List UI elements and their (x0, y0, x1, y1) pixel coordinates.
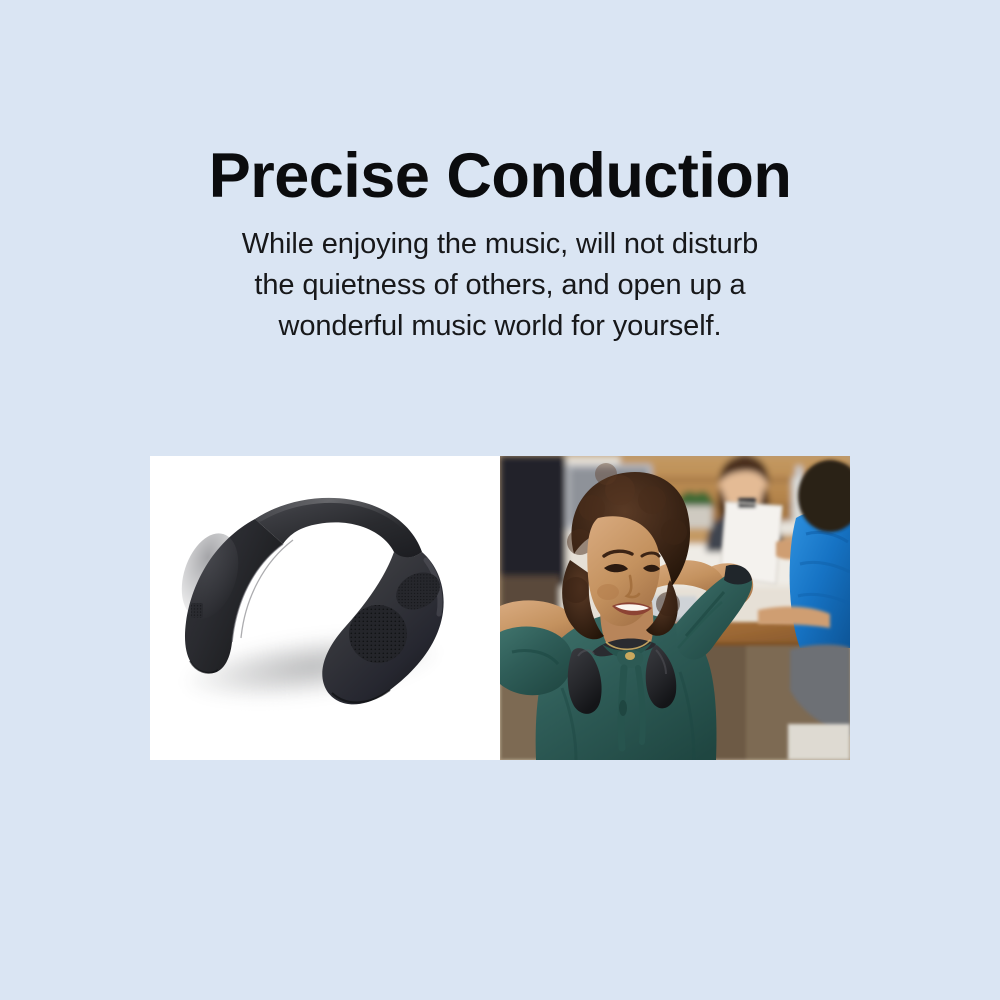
subcopy-line-1: While enjoying the music, will not distu… (0, 224, 1000, 265)
photo-subject-face (587, 516, 660, 626)
hero-text-block: Precise Conduction While enjoying the mu… (0, 142, 1000, 348)
media-strip (150, 456, 850, 760)
subcopy-line-3: wonderful music world for yourself. (0, 306, 1000, 347)
subcopy-line-2: the quietness of others, and open up a (0, 265, 1000, 306)
promo-page: Precise Conduction While enjoying the mu… (0, 0, 1000, 1000)
product-image-panel (150, 456, 500, 760)
hero-subcopy: While enjoying the music, will not distu… (0, 224, 1000, 348)
page-title: Precise Conduction (0, 142, 1000, 210)
neckband-speaker-illustration (150, 456, 500, 760)
lifestyle-scene-illustration (500, 456, 850, 760)
product-stage (150, 456, 500, 760)
lifestyle-photo-panel (500, 456, 850, 760)
